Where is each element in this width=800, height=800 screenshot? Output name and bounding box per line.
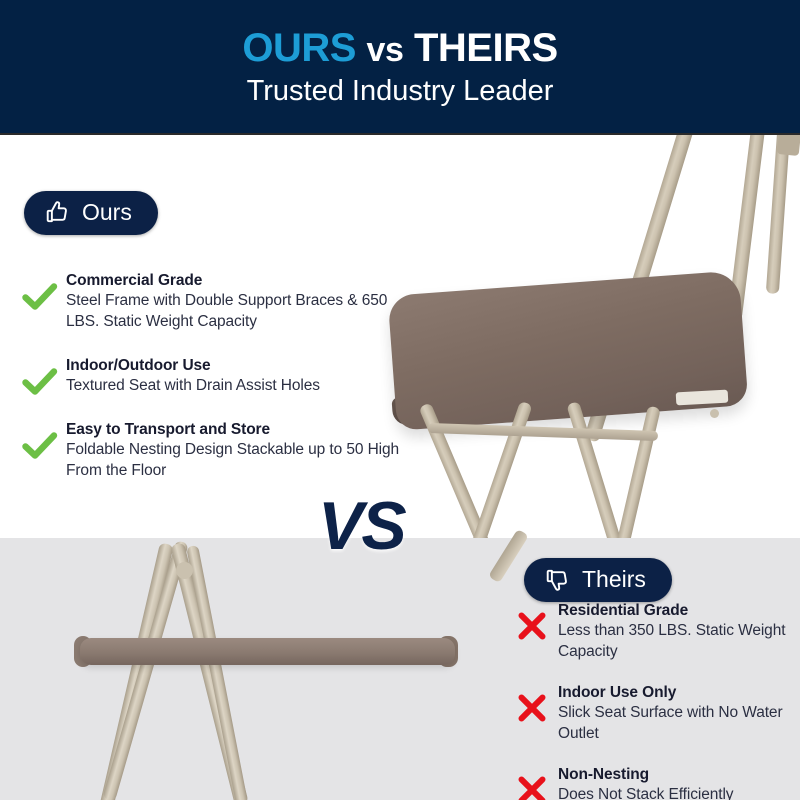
ours-badge: Ours <box>24 191 158 235</box>
check-icon <box>22 355 66 397</box>
chair-seat <box>80 638 455 665</box>
thumbs-up-icon <box>44 199 71 226</box>
cross-icon <box>516 764 558 800</box>
list-item-title: Indoor/Outdoor Use <box>66 355 402 376</box>
chair-hinge-bracket <box>676 390 729 406</box>
cross-icon <box>516 600 558 642</box>
folding-chair-theirs-photo <box>0 538 520 800</box>
thumbs-down-icon <box>544 566 571 593</box>
theirs-badge-label: Theirs <box>582 568 646 591</box>
list-item-text: Easy to Transport and Store Foldable Nes… <box>66 419 402 482</box>
list-item-title: Indoor Use Only <box>558 682 800 703</box>
page-title: OURS vs THEIRS <box>242 28 557 68</box>
check-icon <box>22 270 66 312</box>
list-item-title: Commercial Grade <box>66 270 402 291</box>
title-ours-word: OURS <box>242 26 356 70</box>
list-item-title: Residential Grade <box>558 600 800 621</box>
theirs-feature-list: Residential Grade Less than 350 LBS. Sta… <box>516 600 800 800</box>
list-item-desc: Foldable Nesting Design Stackable up to … <box>66 440 402 482</box>
folding-chair-ours-photo <box>380 135 800 538</box>
list-item: Residential Grade Less than 350 LBS. Sta… <box>516 600 800 663</box>
page-subtitle: Trusted Industry Leader <box>247 77 554 106</box>
ours-badge-label: Ours <box>82 201 132 224</box>
chair-back-post <box>766 135 791 294</box>
list-item-text: Indoor/Outdoor Use Textured Seat with Dr… <box>66 355 402 397</box>
vs-divider-label: VS <box>318 492 405 560</box>
list-item-desc: Less than 350 LBS. Static Weight Capacit… <box>558 621 800 663</box>
chair-leg <box>610 406 661 538</box>
list-item-text: Non-Nesting Does Not Stack Efficiently <box>558 764 800 800</box>
list-item-title: Easy to Transport and Store <box>66 419 402 440</box>
chair-leg <box>99 542 173 800</box>
check-icon <box>22 419 66 461</box>
list-item: Non-Nesting Does Not Stack Efficiently <box>516 764 800 800</box>
list-item: Indoor Use Only Slick Seat Surface with … <box>516 682 800 745</box>
title-vs-word: vs <box>367 31 404 69</box>
theirs-badge: Theirs <box>524 558 672 602</box>
ours-feature-list: Commercial Grade Steel Frame with Double… <box>22 270 402 482</box>
chair-hinge-rivet <box>710 409 719 418</box>
list-item-desc: Textured Seat with Drain Assist Holes <box>66 376 402 397</box>
chair-support-brace <box>428 423 658 441</box>
list-item: Commercial Grade Steel Frame with Double… <box>22 270 402 333</box>
comparison-infographic: OURS vs THEIRS Trusted Industry Leader O… <box>0 0 800 800</box>
list-item-desc: Steel Frame with Double Support Braces &… <box>66 291 402 333</box>
cross-icon <box>516 682 558 724</box>
chair-hinge-rivet <box>176 562 193 579</box>
list-item-text: Residential Grade Less than 350 LBS. Sta… <box>558 600 800 663</box>
list-item-desc: Does Not Stack Efficiently <box>558 785 800 800</box>
chair-leg <box>186 545 248 800</box>
list-item-desc: Slick Seat Surface with No Water Outlet <box>558 703 800 745</box>
list-item: Easy to Transport and Store Foldable Nes… <box>22 419 402 482</box>
list-item: Indoor/Outdoor Use Textured Seat with Dr… <box>22 355 402 397</box>
list-item-text: Indoor Use Only Slick Seat Surface with … <box>558 682 800 745</box>
list-item-text: Commercial Grade Steel Frame with Double… <box>66 270 402 333</box>
header-banner: OURS vs THEIRS Trusted Industry Leader <box>0 0 800 135</box>
title-theirs-word: THEIRS <box>414 26 558 70</box>
chair-leg <box>102 540 188 800</box>
list-item-title: Non-Nesting <box>558 764 800 785</box>
chair-back-cap <box>777 135 800 156</box>
